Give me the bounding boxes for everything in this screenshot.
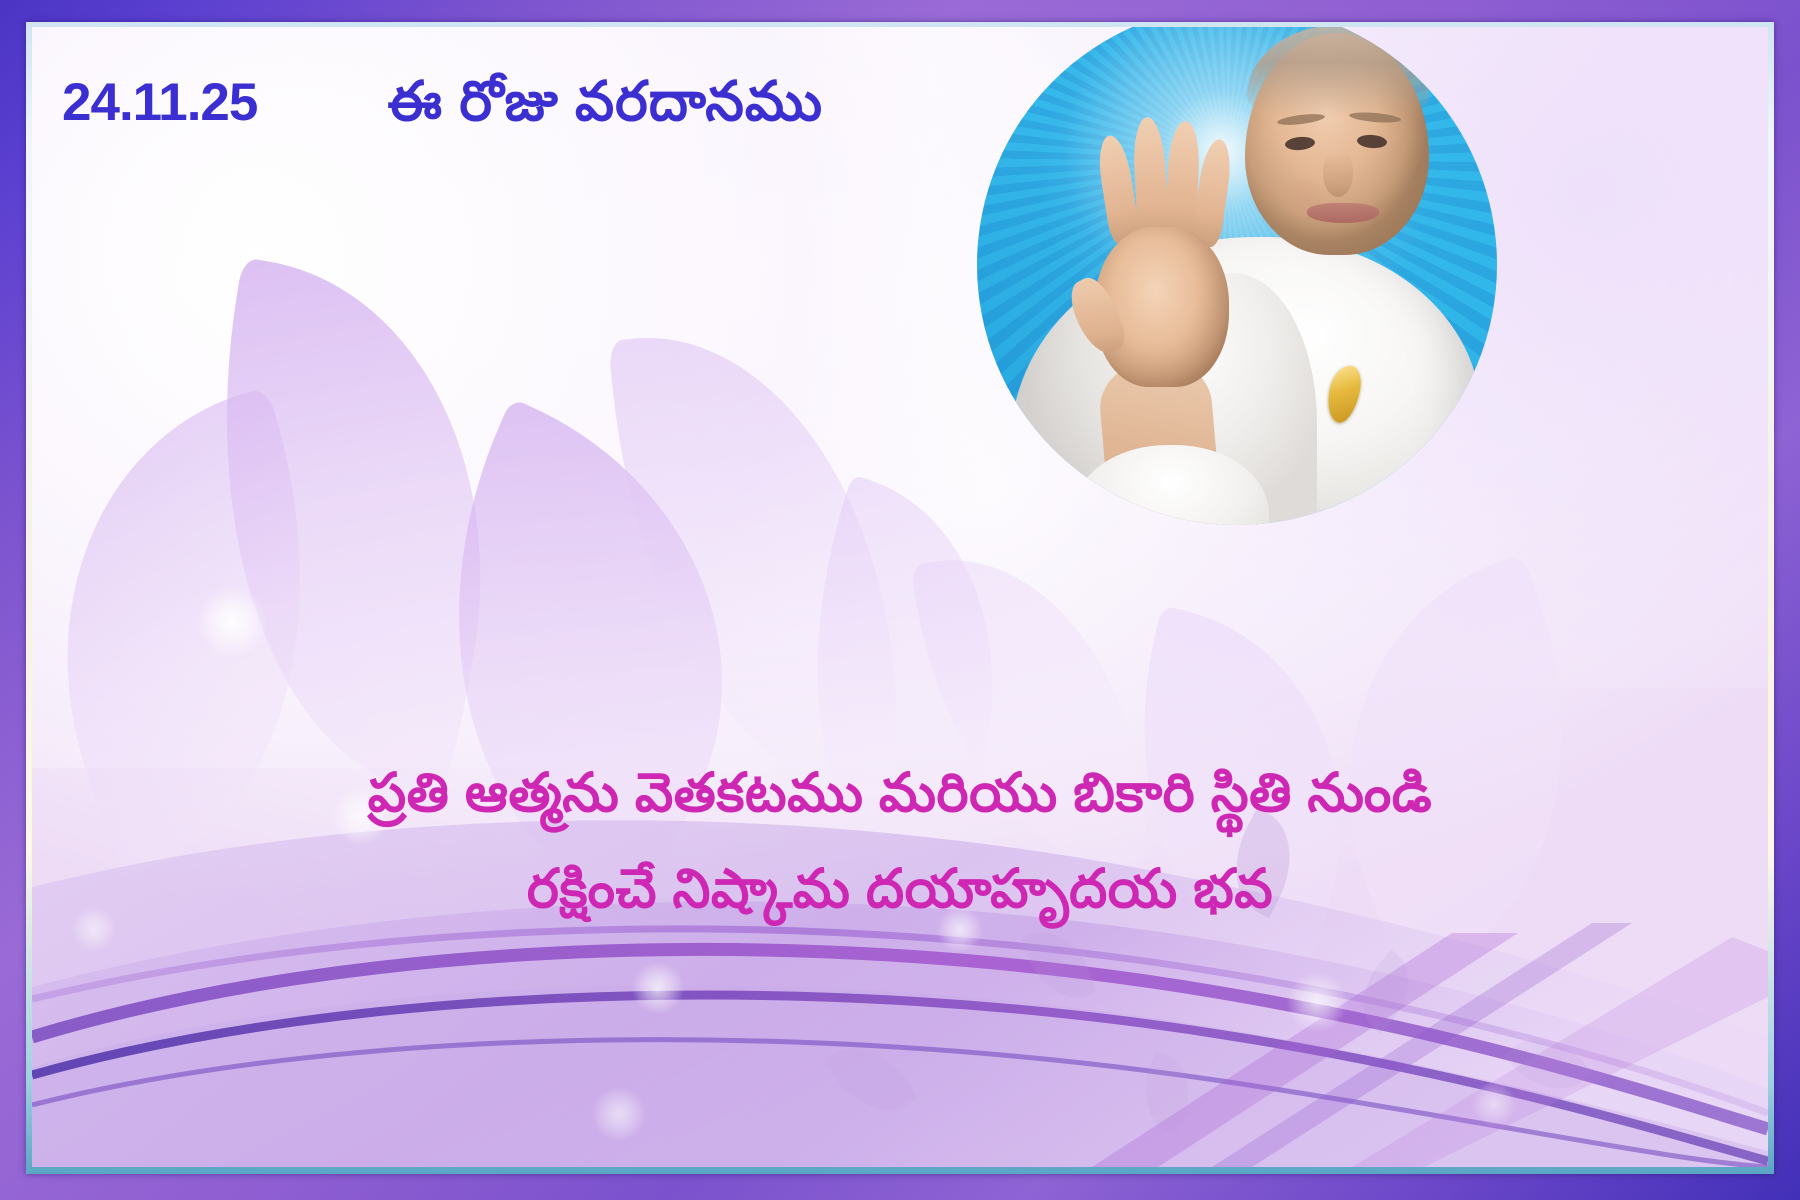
floating-petal (1214, 808, 1312, 918)
sparkle-highlight (632, 962, 684, 1014)
ribbon-line (32, 1040, 1768, 1167)
floating-petal (1503, 1020, 1592, 1109)
sparkle-highlight (197, 587, 267, 657)
ribbon-decoration-band (32, 737, 1768, 1167)
message-block: ప్రతి ఆత్మను వెతకటము మరియు బికారి స్థితి… (32, 745, 1768, 937)
sparkle-highlight (1287, 972, 1347, 1032)
figure-hair (1247, 27, 1429, 117)
message-line-1: ప్రతి ఆత్మను వెతకటము మరియు బికారి స్థితి… (32, 745, 1768, 841)
portrait-photo (977, 27, 1497, 525)
lotus-petal-decoration (165, 257, 530, 796)
poster-canvas: 24.11.25 ఈ రోజు వరదానము (32, 27, 1768, 1167)
lotus-petal-decoration (1088, 605, 1386, 978)
floating-petal (1022, 921, 1097, 1010)
ribbon-sweep (32, 820, 1768, 1167)
date-label: 24.11.25 (62, 72, 257, 133)
varadan-poster: 24.11.25 ఈ రోజు వరదానము (0, 0, 1800, 1200)
figure-mouth (1307, 203, 1379, 223)
sparkle-highlight (332, 787, 390, 845)
sparkle-highlight (937, 907, 983, 953)
lotus-petal-decoration (608, 315, 907, 819)
background-wash-left (32, 27, 1108, 768)
ribbon-svg (32, 737, 1768, 1167)
page-title: ఈ రోజు వరదానము (387, 69, 823, 147)
ribbon-streak (1352, 937, 1768, 1167)
lotus-petal-decoration (1278, 553, 1645, 980)
ribbon-streak (1212, 923, 1632, 1167)
poster-header: 24.11.25 ఈ రోజు వరదానము (32, 69, 1768, 147)
lotus-petal-decoration (910, 533, 1154, 891)
lotus-petal-decoration (341, 398, 813, 916)
sparkle-highlight (592, 1087, 646, 1141)
ribbon-sweep (32, 901, 1768, 1167)
message-line-2: రక్షించే నిష్కామ దయాహృదయ భవ (32, 841, 1768, 937)
ribbon-line (32, 995, 1768, 1161)
floating-petal (1131, 1051, 1203, 1136)
lotus-petal-decoration (741, 475, 1053, 900)
sparkle-highlight (72, 907, 116, 951)
ribbon-streak (1092, 933, 1518, 1167)
ribbon-sweep (32, 985, 1768, 1167)
floating-petal (1345, 950, 1428, 1034)
lotus-petal-decoration (32, 387, 386, 878)
sparkle-highlight (1472, 1082, 1516, 1126)
ribbon-line (32, 949, 1768, 1129)
floating-petal (823, 1028, 918, 1130)
portrait-figure (977, 27, 1497, 525)
ribbon-line (32, 929, 1768, 1113)
